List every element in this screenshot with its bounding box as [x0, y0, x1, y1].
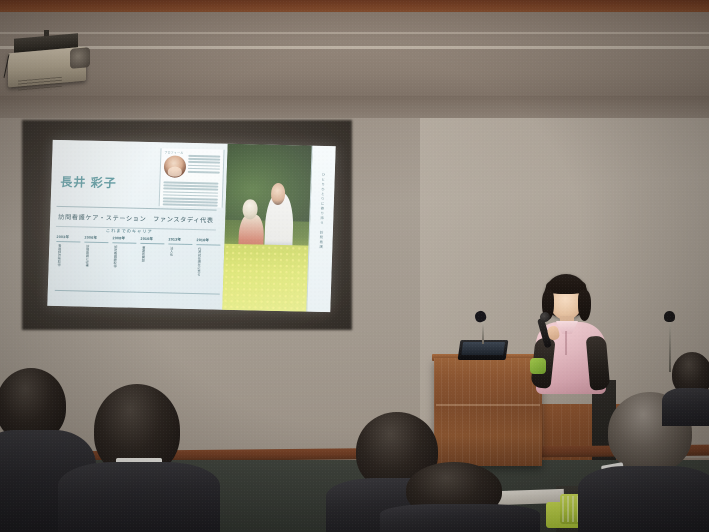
audience-shoulders	[662, 388, 709, 426]
green-object-on-podium	[530, 358, 546, 374]
timeline-entry: 2006年 訪問看護に従事	[83, 236, 109, 286]
timeline-text: 看護師資格取得	[55, 244, 61, 284]
audience-member	[388, 462, 538, 532]
audience-member	[56, 384, 222, 532]
slide-photograph	[223, 144, 313, 312]
ceiling-projector	[4, 36, 100, 88]
slide-timeline-title: これまでのキャリア	[106, 228, 153, 235]
timeline-axis	[55, 290, 220, 294]
slide-caption-text: ひとりひとりに寄り添う 訪問看護	[318, 172, 326, 249]
timeline-text: 認定看護師取得	[111, 245, 117, 285]
timeline-entry: 2016年 代表就任現在に至る	[195, 238, 221, 288]
slide-timeline: 2003年 看護師資格取得 2006年 訪問看護に従事 2008年 認定看護師取…	[55, 235, 222, 288]
floor-microphone-stand	[669, 320, 671, 372]
presenter-hair-right	[578, 290, 591, 321]
slide-bio-text-lines	[188, 155, 221, 175]
slide-bio-card: プロフィール	[159, 148, 225, 207]
timeline-entry: 2010年 事業所開設	[139, 237, 165, 287]
presentation-room-photo: 長井 彩子 訪問看護ケア・ステーション ファンスタディ代表 これまでのキャリア …	[0, 0, 709, 532]
timeline-text: 事業所開設	[139, 246, 145, 286]
timeline-year: 2006年	[84, 236, 108, 244]
timeline-entry: 2013年 法人化	[167, 237, 193, 287]
timeline-year: 2008年	[112, 236, 136, 244]
slide-bio-paragraph	[163, 181, 219, 208]
timeline-text: 法人化	[167, 246, 173, 286]
photo-haze	[223, 144, 313, 312]
audience-member	[672, 352, 709, 424]
presenter-shirt-placket	[565, 331, 567, 355]
projected-slide: 長井 彩子 訪問看護ケア・ステーション ファンスタディ代表 これまでのキャリア …	[47, 140, 335, 312]
slide-left-panel: 長井 彩子 訪問看護ケア・ステーション ファンスタディ代表 これまでのキャリア …	[47, 140, 228, 310]
ceiling-seam	[0, 46, 709, 49]
gooseneck-microphone-stem	[482, 320, 484, 344]
audience-shoulders	[380, 504, 540, 532]
presenter	[516, 274, 622, 394]
wall-upper-shadow	[0, 96, 709, 120]
podium-trim	[436, 404, 540, 406]
slide-portrait-photo	[164, 155, 187, 177]
presenter-sleeve-right	[586, 335, 611, 391]
slide-presenter-name: 長井 彩子	[60, 173, 117, 191]
timeline-entry: 2008年 認定看護師取得	[111, 236, 137, 286]
audience-shoulders	[58, 462, 220, 532]
timeline-text: 訪問看護に従事	[83, 245, 89, 285]
ceiling-seam	[0, 32, 709, 34]
timeline-year: 2013年	[168, 237, 192, 245]
timeline-year: 2010年	[140, 237, 164, 245]
microphone-icon	[664, 311, 675, 322]
timeline-year: 2016年	[196, 238, 220, 246]
slide-organization: 訪問看護ケア・ステーション ファンスタディ代表	[58, 212, 214, 225]
timeline-text: 代表就任現在に至る	[195, 247, 201, 287]
timeline-entry: 2003年 看護師資格取得	[55, 235, 81, 285]
audience-shoulders	[578, 466, 709, 532]
ceiling	[0, 12, 709, 98]
projector-lens-icon	[70, 47, 90, 69]
timeline-year: 2003年	[56, 235, 80, 243]
